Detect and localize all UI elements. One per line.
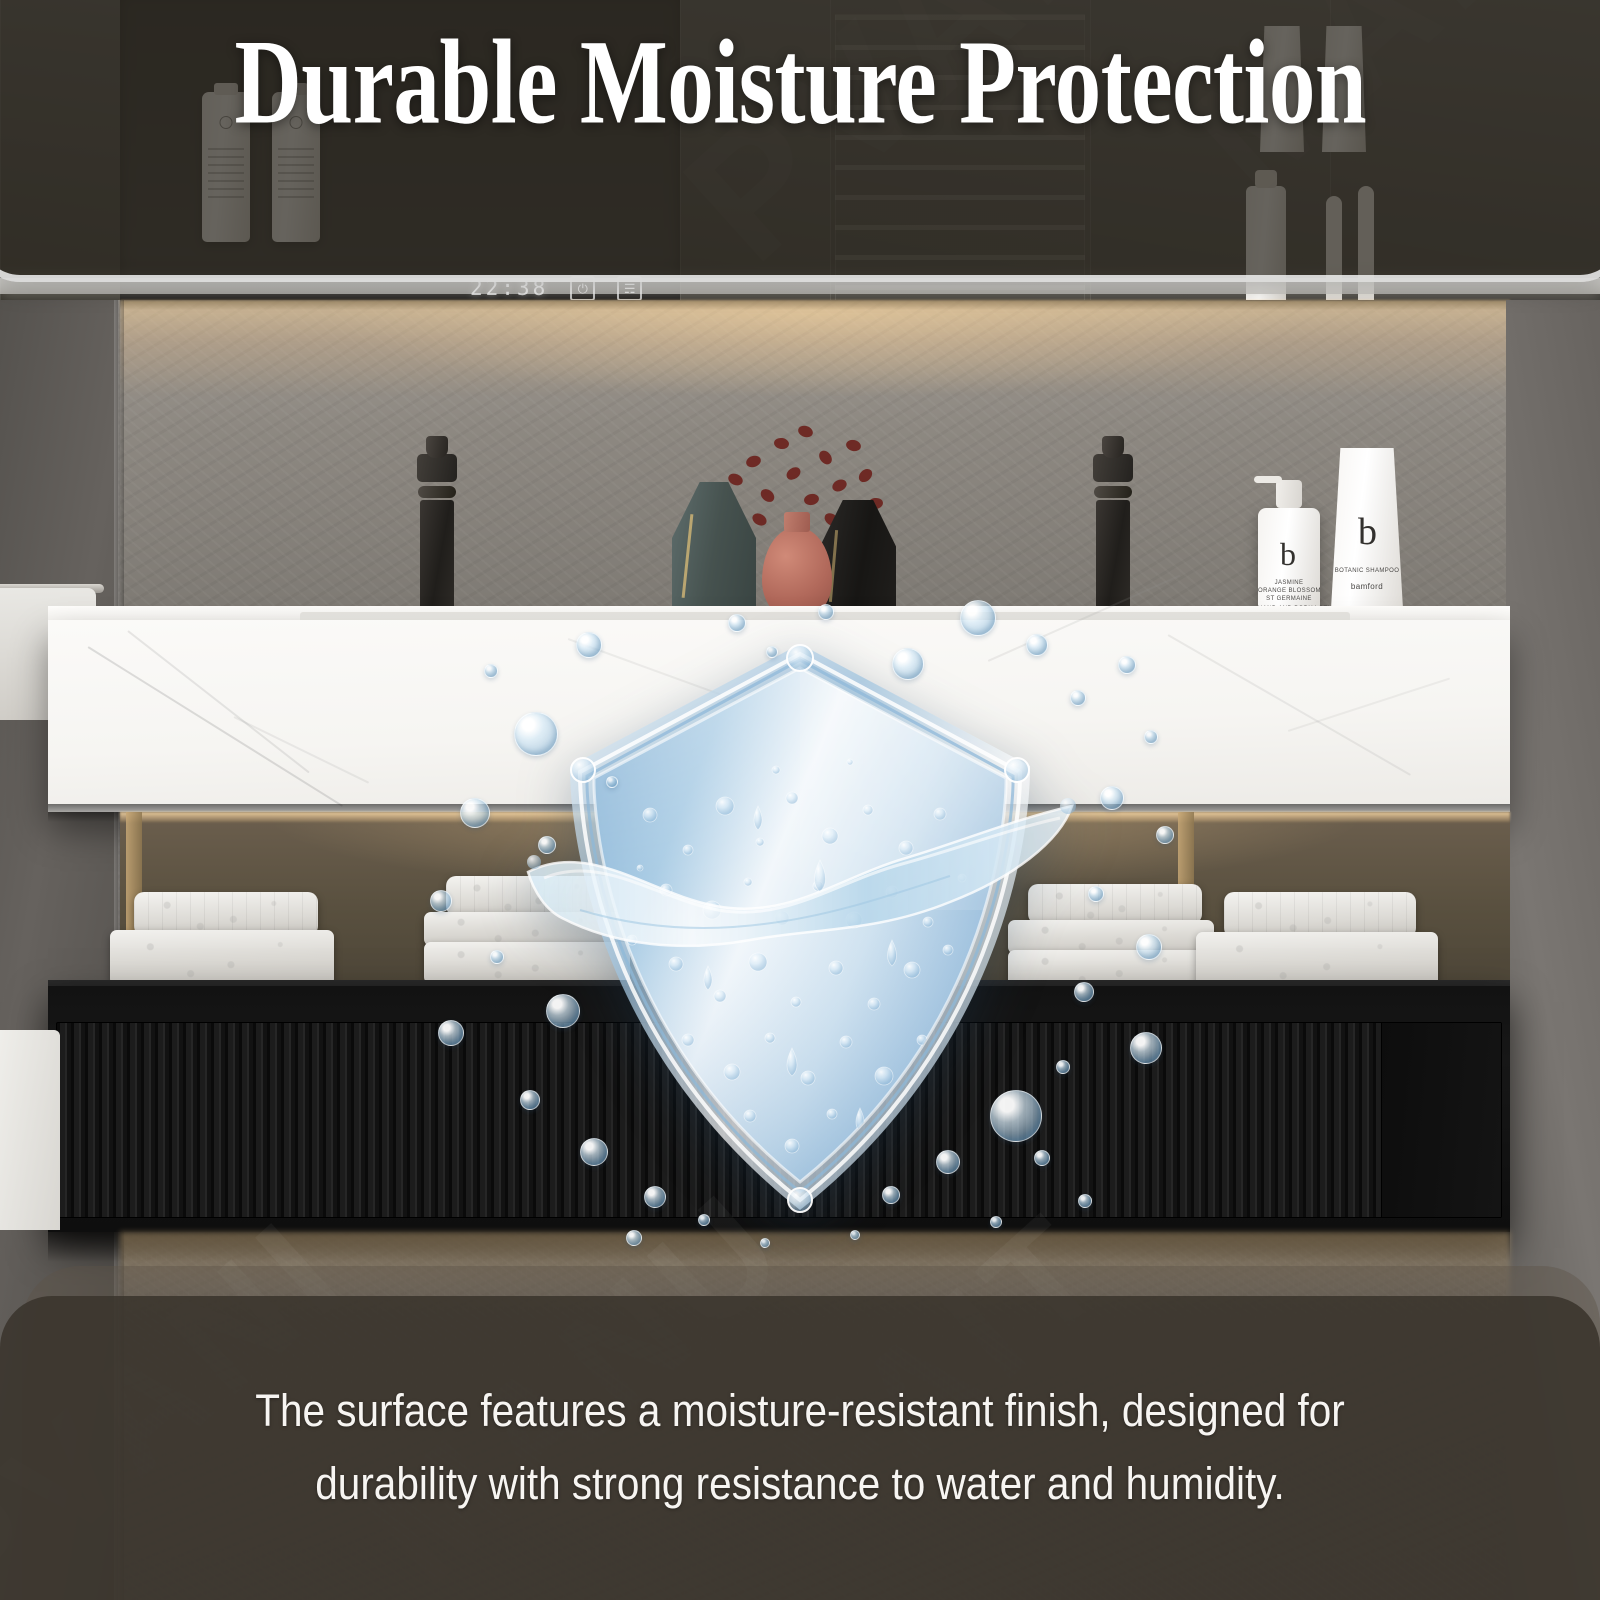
pump-label-line2: ORANGE BLOSSOM: [1258, 588, 1320, 594]
product-feature-banner: 22:38 ⏻ ☴: [0, 0, 1600, 1600]
caption-line-1: The surface features a moisture-resistan…: [255, 1385, 1345, 1436]
folded-towel: [110, 930, 334, 986]
towel-stack-right: [1196, 892, 1436, 988]
faucet-left: [420, 500, 454, 622]
bathtub-edge: [0, 1030, 60, 1230]
bamford-tube: b BOTANIC SHAMPOO bamford: [1330, 448, 1404, 626]
water-protection-shield: [520, 610, 1080, 1240]
caption-text: The surface features a moisture-resistan…: [202, 1375, 1399, 1521]
caption-overlay-panel: The surface features a moisture-resistan…: [0, 1296, 1600, 1600]
faucet-lever: [1094, 486, 1132, 498]
pump-label-line1: JASMINE: [1258, 580, 1320, 586]
caption-line-2: durability with strong resistance to wat…: [315, 1458, 1284, 1509]
bamford-b-icon: b: [1280, 536, 1296, 573]
pump-label-line3: ST GERMAINE: [1258, 596, 1320, 602]
bamford-b-icon: b: [1358, 510, 1377, 554]
towel-stack-left: [110, 892, 330, 988]
page-title: Durable Moisture Protection: [234, 19, 1366, 146]
niche-led-glow: [120, 300, 1510, 396]
cabinet-side-panel: [1381, 1023, 1501, 1217]
faucet-lever: [418, 486, 456, 498]
tube-label-line1: BOTANIC SHAMPOO: [1330, 568, 1404, 574]
tube-brand: bamford: [1330, 582, 1404, 591]
header-overlay-panel: Durable Moisture Protection: [0, 0, 1600, 282]
